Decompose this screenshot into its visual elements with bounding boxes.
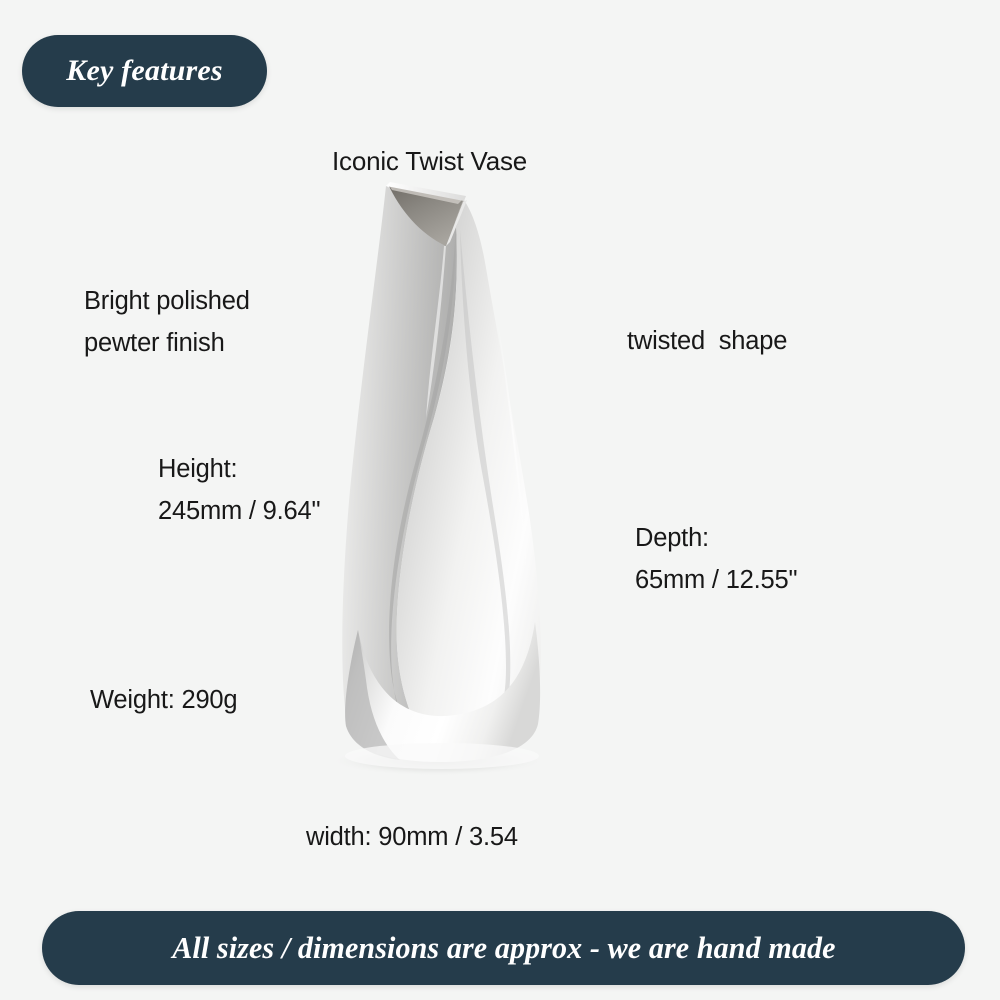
key-features-label: Key features	[66, 54, 223, 88]
annotation-shape: twisted shape	[627, 320, 787, 362]
disclaimer-banner: All sizes / dimensions are approx - we a…	[42, 911, 965, 985]
vase-illustration	[300, 160, 600, 780]
infographic-canvas: Key features Iconic Twist Vase	[0, 0, 1000, 1000]
annotation-finish: Bright polished pewter finish	[84, 280, 250, 364]
key-features-badge: Key features	[22, 35, 267, 107]
disclaimer-label: All sizes / dimensions are approx - we a…	[172, 930, 835, 966]
annotation-depth: Depth: 65mm / 12.55"	[635, 517, 797, 601]
annotation-weight: Weight: 290g	[90, 679, 237, 721]
twisted-metal-vase-image	[300, 160, 600, 780]
annotation-height: Height: 245mm / 9.64"	[158, 448, 320, 532]
vase-foot-ellipse	[345, 743, 539, 769]
annotation-width: width: 90mm / 3.54	[306, 816, 518, 858]
